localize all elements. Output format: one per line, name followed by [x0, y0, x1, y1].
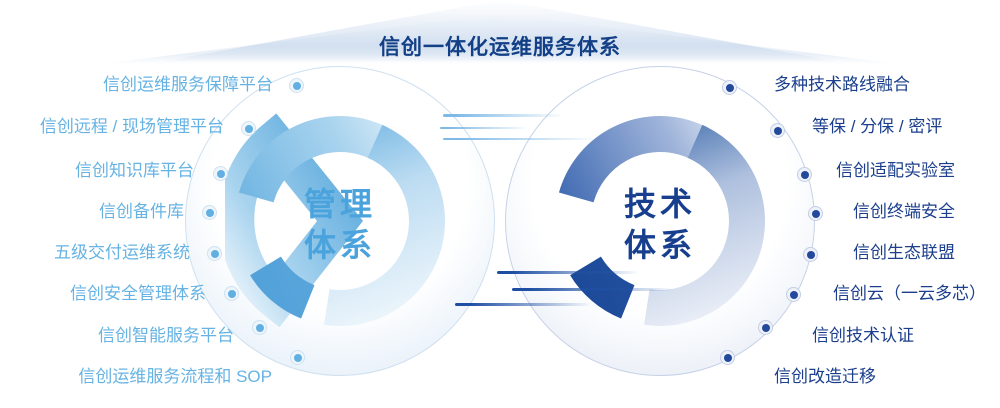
left-node-dot-6[interactable]	[224, 286, 239, 301]
right-hub-line1: 技术	[624, 186, 696, 222]
left-node-dot-4[interactable]	[202, 205, 217, 220]
dot-core-icon	[801, 171, 809, 179]
connector-streak-bottom-2	[512, 288, 672, 291]
left-hub-line1: 管理	[304, 186, 376, 222]
right-node-dot-8[interactable]	[720, 350, 735, 365]
page-title: 信创一体化运维服务体系	[0, 31, 1000, 61]
dot-core-icon	[726, 84, 734, 92]
left-item-label-3: 信创知识库平台	[0, 162, 194, 179]
left-item-label-4: 信创备件库	[0, 203, 184, 220]
dot-core-icon	[217, 170, 225, 178]
right-node-dot-6[interactable]	[786, 287, 801, 302]
left-item-label-7: 信创智能服务平台	[0, 327, 234, 344]
left-node-dot-3[interactable]	[213, 166, 228, 181]
right-item-label-4: 信创终端安全	[853, 203, 955, 220]
dot-core-icon	[774, 127, 782, 135]
left-item-label-6: 信创安全管理体系	[0, 285, 206, 302]
left-node-dot-5[interactable]	[207, 246, 222, 261]
dot-core-icon	[790, 291, 798, 299]
right-item-label-6: 信创云（一云多芯）	[833, 285, 986, 302]
dot-core-icon	[724, 354, 732, 362]
left-item-label-2: 信创远程 / 现场管理平台	[0, 118, 224, 135]
dot-core-icon	[812, 210, 820, 218]
left-item-label-5: 五级交付运维系统	[0, 244, 190, 261]
left-item-label-1: 信创运维服务保障平台	[0, 76, 273, 93]
infographic-canvas: 信创一体化运维服务体系 管理 体系	[0, 0, 1000, 408]
connector-streak-bottom-3	[455, 303, 590, 306]
left-hub-line2: 体系	[250, 225, 430, 266]
right-item-label-1: 多种技术路线融合	[774, 76, 910, 93]
connector-streak-top-1	[443, 114, 561, 117]
right-node-dot-7[interactable]	[758, 320, 773, 335]
right-item-label-7: 信创技术认证	[812, 327, 914, 344]
dot-core-icon	[228, 290, 236, 298]
right-item-label-2: 等保 / 分保 / 密评	[812, 118, 942, 135]
left-node-dot-7[interactable]	[252, 320, 267, 335]
left-node-dot-8[interactable]	[290, 350, 305, 365]
right-node-dot-2[interactable]	[770, 123, 785, 138]
left-item-label-8: 信创运维服务流程和 SOP	[0, 368, 272, 385]
left-node-dot-2[interactable]	[241, 121, 256, 136]
right-node-dot-5[interactable]	[803, 247, 818, 262]
right-item-label-5: 信创生态联盟	[853, 244, 955, 261]
connector-streak-top-2	[440, 127, 526, 129]
dot-core-icon	[293, 82, 301, 90]
dot-core-icon	[294, 354, 302, 362]
dot-core-icon	[807, 251, 815, 259]
connector-streak-bottom-1	[497, 271, 637, 274]
dot-core-icon	[245, 125, 253, 133]
dot-core-icon	[762, 324, 770, 332]
right-item-label-3: 信创适配实验室	[836, 162, 955, 179]
right-item-label-8: 信创改造迁移	[774, 368, 876, 385]
dot-core-icon	[256, 324, 264, 332]
dot-core-icon	[211, 250, 219, 258]
dot-core-icon	[206, 209, 214, 217]
right-hub-label: 技术 体系	[570, 184, 750, 266]
left-hub-label: 管理 体系	[250, 184, 430, 266]
connector-streak-top-3	[443, 138, 593, 140]
right-node-dot-3[interactable]	[797, 167, 812, 182]
right-node-dot-4[interactable]	[808, 206, 823, 221]
right-hub-line2: 体系	[570, 225, 750, 266]
right-node-dot-1[interactable]	[722, 80, 737, 95]
left-node-dot-1[interactable]	[289, 78, 304, 93]
